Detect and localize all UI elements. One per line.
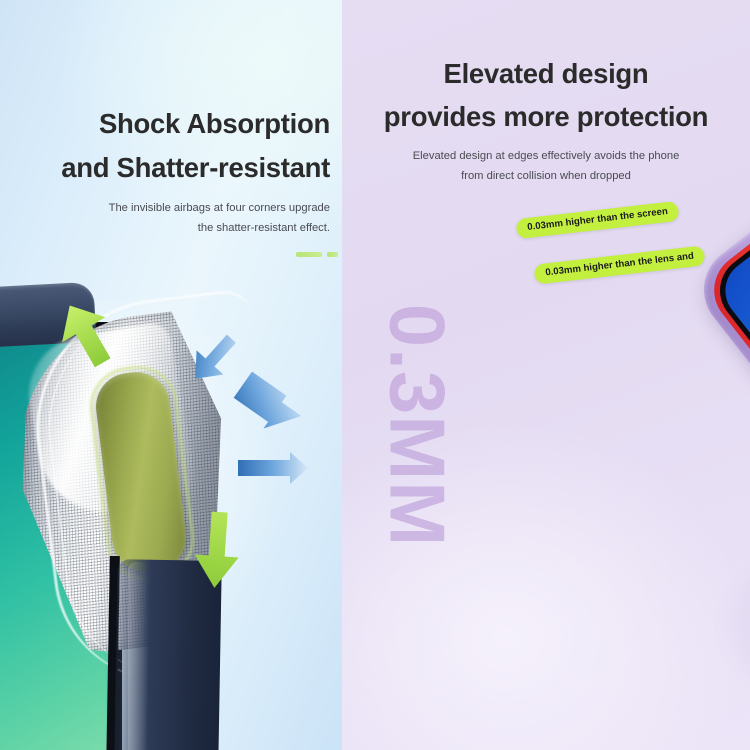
impact-arrows-group (180, 330, 330, 500)
front-raised-edge-red (699, 140, 750, 585)
phone-drop-shadow (714, 520, 750, 730)
left-heading-line1: Shock Absorption (0, 108, 330, 140)
front-bezel (706, 147, 750, 578)
airbag-expansion-arrow-down (186, 508, 248, 594)
accent-dash-left-b (327, 252, 338, 257)
right-heading-line2: provides more protection (342, 101, 750, 133)
product-infographic: Shock Absorption and Shatter-resistant T… (0, 0, 750, 750)
accent-dash-left-a (296, 252, 322, 257)
right-subtitle-line2: from direct collision when dropped (342, 170, 750, 182)
impact-arrow-1 (182, 330, 245, 391)
left-heading-line2: and Shatter-resistant (0, 152, 330, 184)
airbag-expansion-arrow-up (40, 296, 130, 376)
impact-arrow-2 (229, 372, 306, 443)
left-subtitle-line2: the shatter-resistant effect. (0, 222, 330, 234)
front-display (713, 154, 750, 571)
thickness-watermark: 0.3MM (372, 281, 463, 571)
case-side-highlight (128, 562, 148, 750)
right-heading-line1: Elevated design (342, 58, 750, 90)
left-subtitle-line1: The invisible airbags at four corners up… (0, 202, 330, 214)
right-subtitle-line1: Elevated design at edges effectively avo… (342, 150, 750, 162)
impact-arrow-3 (238, 452, 308, 484)
